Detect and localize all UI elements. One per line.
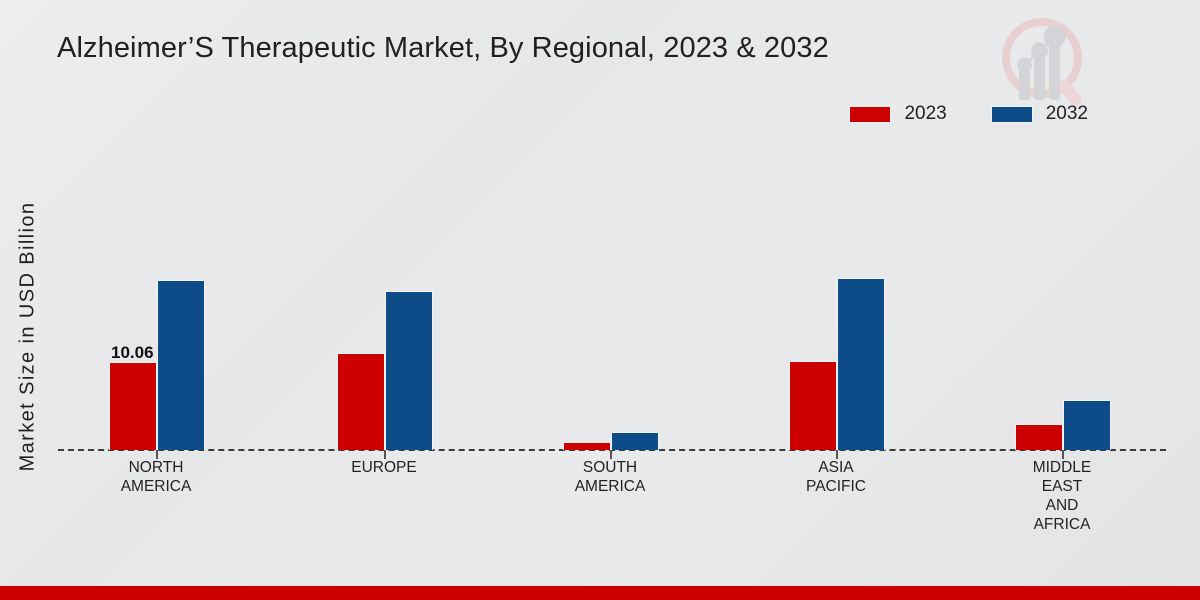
bar-europe-2032[interactable]: [385, 291, 433, 450]
x-label-line: AMERICA: [66, 477, 246, 496]
x-label-line: EAST: [972, 477, 1152, 496]
bar-group-asia-pacific: [789, 150, 885, 450]
bar-asia-pacific-2023[interactable]: [789, 361, 837, 450]
x-label-line: PACIFIC: [746, 477, 926, 496]
bar-group-middle-east-and-africa: [1015, 150, 1111, 450]
bar-south-america-2032[interactable]: [611, 432, 659, 450]
bar-middle-east-and-africa-2032[interactable]: [1063, 400, 1111, 450]
bottom-accent-strip: [0, 586, 1200, 600]
bar-south-america-2023[interactable]: [563, 442, 611, 450]
bar-middle-east-and-africa-2023[interactable]: [1015, 424, 1063, 450]
x-label-middle-east-and-africa: MIDDLE EAST AND AFRICA: [972, 458, 1152, 534]
bar-group-europe: [337, 150, 433, 450]
chart-container: Alzheimer’S Therapeutic Market, By Regio…: [0, 0, 1200, 600]
value-label-north-america-2023: 10.06: [111, 343, 154, 363]
x-label-line: NORTH: [66, 458, 246, 477]
x-label-line: EUROPE: [294, 458, 474, 477]
x-label-north-america: NORTH AMERICA: [66, 458, 246, 496]
x-label-asia-pacific: ASIA PACIFIC: [746, 458, 926, 496]
x-label-south-america: SOUTH AMERICA: [520, 458, 700, 496]
plot-area: 10.06 NORTH AMERICA EUROPE SOUTH AM: [0, 0, 1200, 600]
x-label-line: SOUTH: [520, 458, 700, 477]
x-label-line: AND: [972, 496, 1152, 515]
x-label-line: AMERICA: [520, 477, 700, 496]
x-label-line: AFRICA: [972, 515, 1152, 534]
bar-group-south-america: [563, 150, 659, 450]
x-label-line: ASIA: [746, 458, 926, 477]
bar-group-north-america: [109, 150, 205, 450]
x-label-line: MIDDLE: [972, 458, 1152, 477]
bar-north-america-2023[interactable]: [109, 362, 157, 450]
bar-north-america-2032[interactable]: [157, 280, 205, 450]
bar-europe-2023[interactable]: [337, 353, 385, 450]
x-label-europe: EUROPE: [294, 458, 474, 477]
bar-asia-pacific-2032[interactable]: [837, 278, 885, 450]
